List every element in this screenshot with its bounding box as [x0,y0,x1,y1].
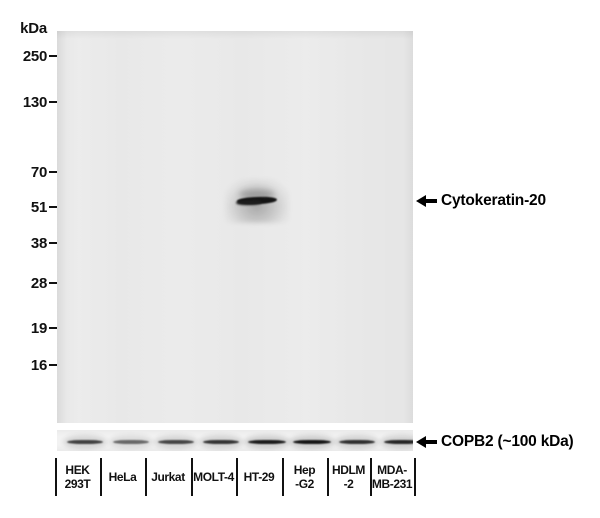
lane-label-molt-4: MOLT-4 [191,458,236,496]
copb2-band [67,440,103,444]
copb2-band [293,440,331,444]
lane-label-line2: -G2 [295,477,314,491]
ladder-unit-label: kDa [20,20,47,37]
annotation-label: COPB2 (~100 kDa) [441,433,574,451]
lane-label-hek-293t: HEK 293T [55,458,100,496]
lane-label-line1: Hep [294,463,315,477]
ladder-mark-250: 250 [23,48,57,64]
ladder-tick-icon [49,364,57,366]
copb2-band [158,440,194,444]
ladder-tick-icon [49,282,57,284]
ladder-mark-19: 19 [31,320,57,336]
membrane-edge-shading [403,31,413,423]
band-glow [289,435,335,449]
lane-label-ht-29: HT-29 [236,458,282,496]
copb2-band [384,440,413,444]
ladder-tick-icon [49,206,57,208]
ladder-mark-16: 16 [31,357,57,373]
lane-label-line1: HeLa [109,470,137,484]
membrane-edge-shading [57,31,413,39]
band-glow [109,435,153,449]
ladder-value: 250 [23,48,47,65]
western-blot-figure: kDa 250 130 70 51 38 28 19 [0,0,600,518]
cytokeratin-20-band [235,193,279,209]
ladder-tick-icon [49,101,57,103]
copb2-band [248,440,286,444]
left-arrow-icon [416,194,438,208]
left-arrow-icon [416,435,438,449]
molecular-weight-ladder: kDa 250 130 70 51 38 28 19 [0,20,57,390]
ladder-value: 70 [31,164,47,181]
copb2-band [339,440,375,444]
lane-label-line1: HEK [65,463,89,477]
lane-label-mda-mb-231: MDA- MB-231 [370,458,414,496]
ladder-value: 38 [31,235,47,252]
ladder-value: 130 [23,94,47,111]
copb2-loading-control-panel [57,430,413,451]
lane-label-hdlm-2: HDLM -2 [327,458,370,496]
annotation-copb2: COPB2 (~100 kDa) [416,433,574,451]
lane-label-line1: HDLM [332,463,365,477]
ladder-value: 16 [31,357,47,374]
lane-label-line1: Jurkat [151,470,185,484]
lane-label-line2: MB-231 [372,477,412,491]
ladder-tick-icon [49,171,57,173]
ladder-tick-icon [49,327,57,329]
lane-divider [414,458,416,496]
annotation-cytokeratin-20: Cytokeratin-20 [416,192,546,210]
copb2-band [203,440,239,444]
band-glow [63,435,107,449]
ladder-value: 51 [31,199,47,216]
band-glow [154,435,198,449]
lane-label-hela: HeLa [100,458,145,496]
copb2-band [113,440,149,444]
ladder-tick-icon [49,55,57,57]
lane-label-line2: 293T [65,477,91,491]
ladder-mark-70: 70 [31,164,57,180]
membrane-edge-shading [57,31,67,423]
lane-label-hep-g2: Hep -G2 [282,458,327,496]
ladder-tick-icon [49,242,57,244]
blot-membrane-panel [57,31,413,423]
band-glow [335,435,379,449]
lane-label-line2: -2 [344,477,354,491]
ladder-value: 19 [31,320,47,337]
band-glow [199,435,243,449]
annotation-label: Cytokeratin-20 [441,192,546,210]
ladder-mark-38: 38 [31,235,57,251]
band-glow [244,435,290,449]
lane-label-line1: MOLT-4 [193,470,234,484]
lane-label-line1: MDA- [377,463,407,477]
lane-label-line1: HT-29 [244,470,275,484]
ladder-mark-28: 28 [31,275,57,291]
ladder-mark-130: 130 [23,94,57,110]
lane-label-jurkat: Jurkat [145,458,191,496]
lane-label-row: HEK 293T HeLa Jurkat MOLT-4 HT-29 Hep -G… [0,458,600,498]
band-glow [380,435,413,449]
ladder-value: 28 [31,275,47,292]
ladder-mark-51: 51 [31,199,57,215]
